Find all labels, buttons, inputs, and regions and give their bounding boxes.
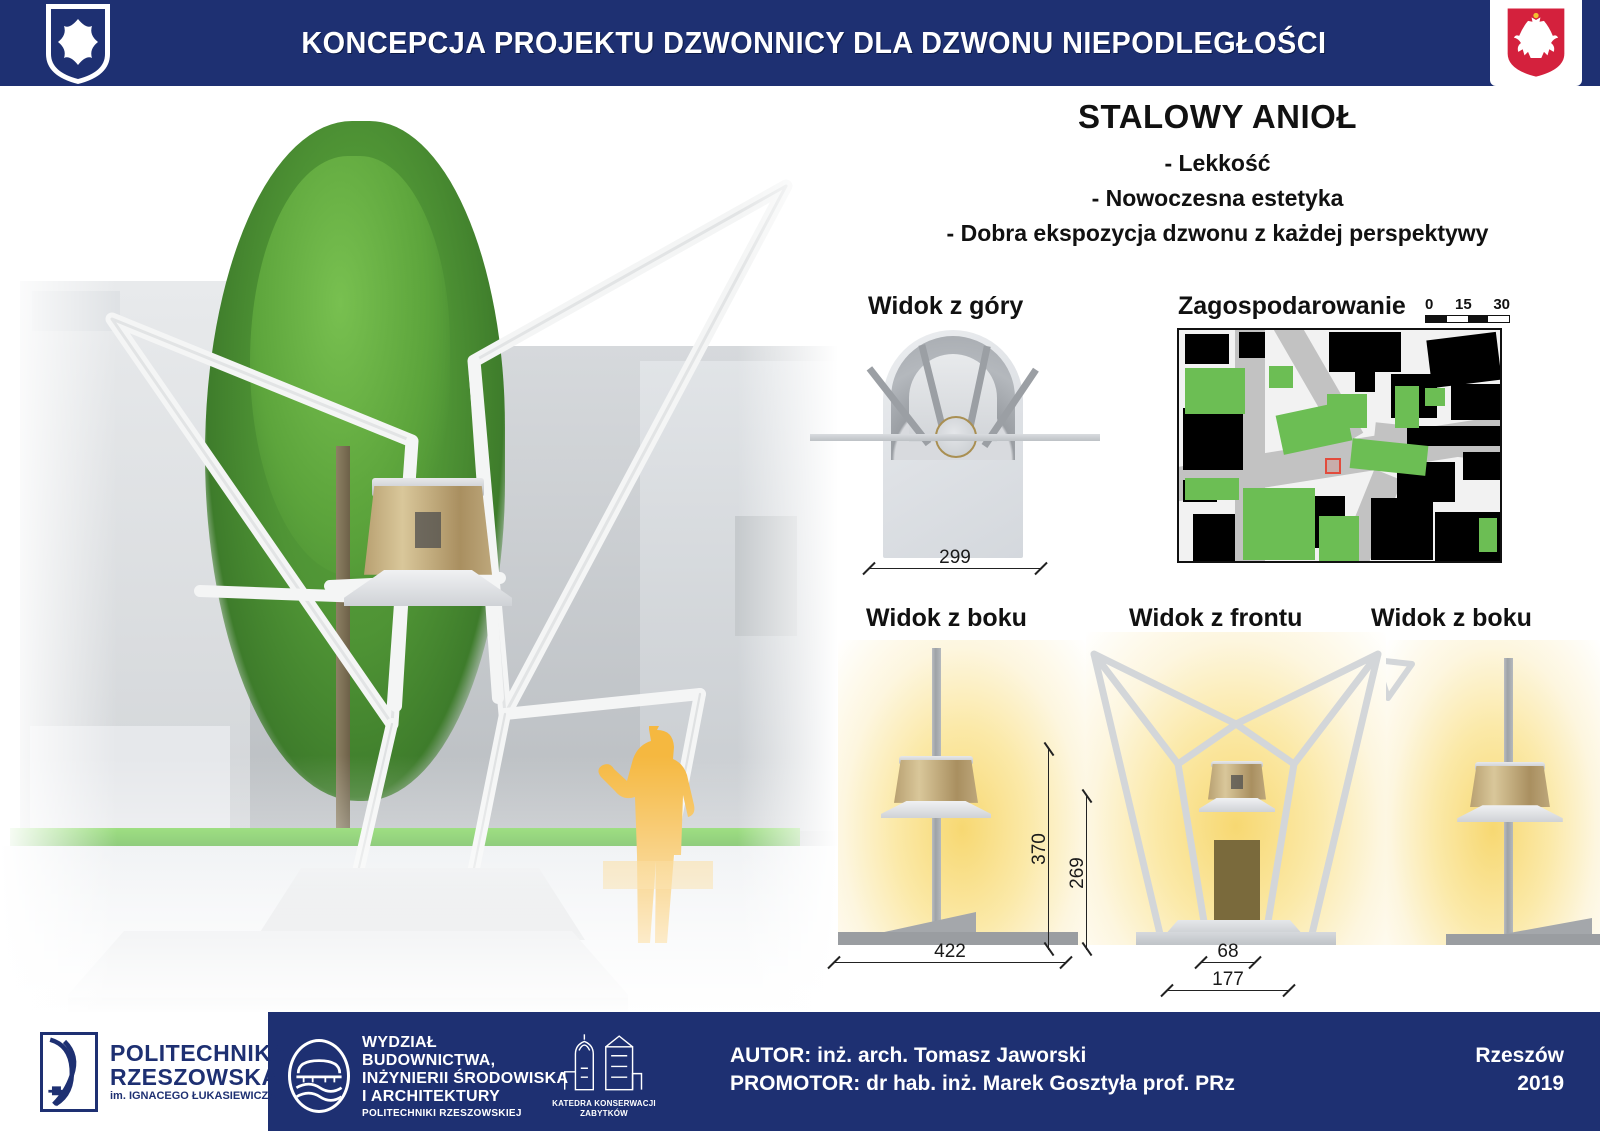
department-line1: KATEDRA KONSERWACJI bbox=[548, 1099, 660, 1109]
side-view-bell bbox=[894, 760, 978, 818]
scalebar-label-15: 15 bbox=[1455, 296, 1472, 313]
bell-skirt bbox=[344, 570, 513, 606]
top-view-beam bbox=[810, 434, 1100, 441]
university-name-line1: POLITECHNIKA bbox=[110, 1041, 289, 1065]
dimension-value-68: 68 bbox=[1192, 941, 1264, 963]
side-view-right-base-slab bbox=[1446, 934, 1600, 945]
site-plan-map bbox=[1177, 328, 1502, 563]
dimension-front-base-width: 177 bbox=[1158, 978, 1298, 998]
dimension-height-bell: 269 bbox=[1078, 787, 1108, 958]
section-title-front-view: Widok z frontu bbox=[1129, 604, 1302, 633]
year-label: 2019 bbox=[1475, 1070, 1564, 1098]
faculty-logo-block: WYDZIAŁ BUDOWNICTWA, INŻYNIERII ŚRODOWIS… bbox=[288, 1034, 568, 1119]
dimension-value-177: 177 bbox=[1158, 969, 1298, 991]
concept-bullet-2: - Nowoczesna estetyka bbox=[835, 185, 1600, 212]
dimension-height-total: 370 bbox=[1040, 740, 1070, 958]
bridge-river-oval-icon bbox=[288, 1039, 350, 1113]
scalebar-label-30: 30 bbox=[1493, 296, 1510, 313]
department-line2: ZABYTKÓW bbox=[548, 1109, 660, 1119]
site-plan-scalebar: 0 15 30 bbox=[1425, 296, 1510, 323]
section-title-side-view-left: Widok z boku bbox=[866, 604, 1027, 633]
section-title-side-view-right: Widok z boku bbox=[1371, 604, 1532, 633]
bell-skirt bbox=[881, 801, 992, 818]
bell-body bbox=[894, 760, 978, 803]
historic-buildings-icon bbox=[554, 1032, 654, 1092]
bell-skirt bbox=[1457, 805, 1563, 822]
department-logo-block: KATEDRA KONSERWACJI ZABYTKÓW bbox=[548, 1032, 660, 1119]
author-credit: AUTOR: inż. arch. Tomasz Jaworski bbox=[730, 1042, 1235, 1070]
dimension-top-view-width: 299 bbox=[860, 556, 1050, 576]
concept-bullet-3: - Dobra ekspozycja dzwonu z każdej persp… bbox=[835, 220, 1600, 247]
page-title: KONCEPCJA PROJEKTU DZWONNICY DLA DZWONU … bbox=[56, 25, 1544, 61]
scalebar-label-0: 0 bbox=[1425, 296, 1433, 313]
bell-skirt bbox=[1199, 798, 1276, 812]
dimension-value-299: 299 bbox=[860, 547, 1050, 569]
concept-text-block: STALOWY ANIOŁ - Lekkość - Nowoczesna est… bbox=[835, 98, 1600, 247]
credits-block: AUTOR: inż. arch. Tomasz Jaworski PROMOT… bbox=[730, 1042, 1235, 1099]
university-patron: im. IGNACEGO ŁUKASIEWICZA bbox=[110, 1091, 289, 1103]
faculty-subline: POLITECHNIKI RZESZOWSKIEJ bbox=[362, 1108, 568, 1119]
dimension-front-inner-width: 68 bbox=[1192, 950, 1264, 970]
polish-eagle-emblem-icon bbox=[1490, 0, 1582, 86]
dimension-side-base-width: 422 bbox=[825, 950, 1075, 970]
side-view-right-bell bbox=[1470, 766, 1550, 822]
independence-bell bbox=[364, 486, 492, 606]
concept-name: STALOWY ANIOŁ bbox=[835, 98, 1600, 136]
top-view-drawing bbox=[865, 330, 1045, 565]
prz-monogram-icon bbox=[40, 1032, 98, 1112]
place-year-block: Rzeszów 2019 bbox=[1475, 1042, 1564, 1099]
concept-bullet-1: - Lekkość bbox=[835, 150, 1600, 177]
bell-eagle-relief-icon bbox=[415, 512, 441, 548]
side-view-right-drawing bbox=[1386, 640, 1600, 945]
front-view-human-scale-figure bbox=[1214, 840, 1260, 932]
dimension-value-370: 370 bbox=[1029, 833, 1051, 865]
section-title-top-view: Widok z góry bbox=[868, 292, 1023, 321]
site-location-marker bbox=[1325, 458, 1341, 474]
dimension-value-422: 422 bbox=[825, 941, 1075, 963]
faculty-line4: I ARCHITEKTURY bbox=[362, 1088, 568, 1106]
human-scale-figure bbox=[585, 726, 725, 986]
dimension-value-269: 269 bbox=[1067, 857, 1089, 889]
university-name-line2: RZESZOWSKA bbox=[110, 1065, 289, 1089]
main-visualization bbox=[0, 86, 838, 1016]
promoter-credit: PROMOTOR: dr hab. inż. Marek Gosztyła pr… bbox=[730, 1070, 1235, 1098]
faculty-line3: INŻYNIERII ŚRODOWISKA bbox=[362, 1070, 568, 1088]
front-view-bell bbox=[1208, 764, 1266, 812]
presentation-board: KONCEPCJA PROJEKTU DZWONNICY DLA DZWONU … bbox=[0, 0, 1600, 1131]
university-logo-block: POLITECHNIKA RZESZOWSKA im. IGNACEGO ŁUK… bbox=[0, 1012, 268, 1131]
header-bar: KONCEPCJA PROJEKTU DZWONNICY DLA DZWONU … bbox=[0, 0, 1600, 86]
section-title-site-plan: Zagospodarowanie bbox=[1178, 292, 1406, 321]
city-label: Rzeszów bbox=[1475, 1042, 1564, 1070]
footer-bar: POLITECHNIKA RZESZOWSKA im. IGNACEGO ŁUK… bbox=[0, 1012, 1600, 1131]
front-view-drawing bbox=[1086, 632, 1386, 945]
bell-body bbox=[1470, 766, 1550, 807]
concrete-plinth-base bbox=[68, 931, 628, 1016]
concrete-plinth-upper bbox=[255, 868, 585, 940]
faculty-line1: WYDZIAŁ bbox=[362, 1034, 568, 1052]
bell-eagle-relief-icon bbox=[1231, 775, 1243, 789]
faculty-line2: BUDOWNICTWA, bbox=[362, 1052, 568, 1070]
